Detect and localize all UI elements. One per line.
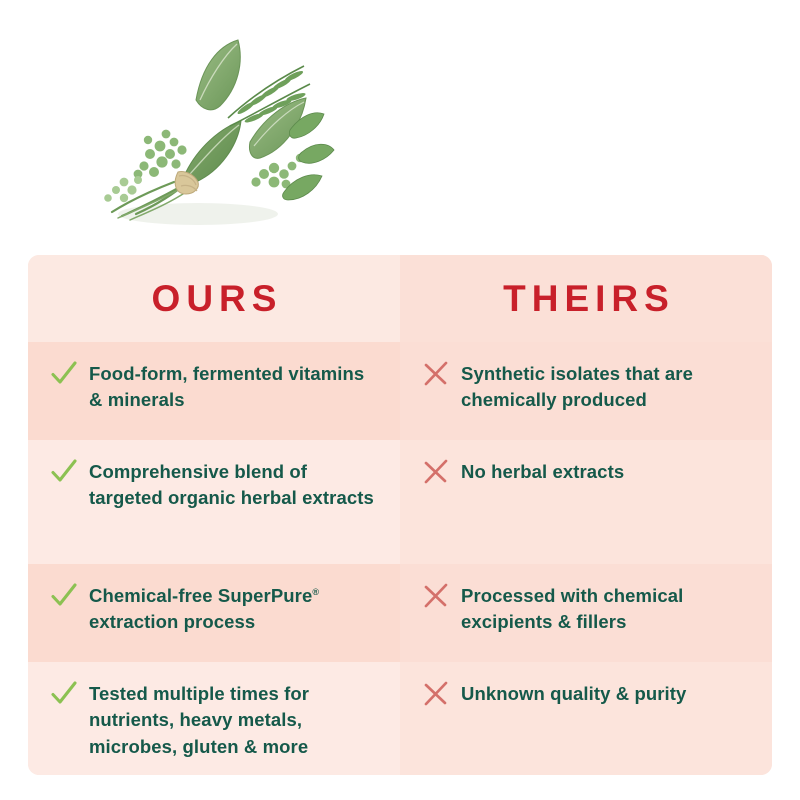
hero-cell-ours [0,0,400,255]
cell-theirs: No herbal extracts [400,440,772,564]
cell-theirs-text: No herbal extracts [461,459,624,485]
cell-theirs-text: Unknown quality & purity [461,681,686,707]
table-header-row: OURS THEIRS [28,255,772,342]
cell-ours-text: Food-form, fermented vitamins & minerals [89,361,378,414]
table-row: Food-form, fermented vitamins & minerals… [28,342,772,440]
cross-icon [421,581,451,611]
check-icon [49,359,79,389]
cell-theirs-text: Synthetic isolates that are chemically p… [461,361,750,414]
cell-theirs: Synthetic isolates that are chemically p… [400,342,772,440]
column-header-ours-label: OURS [146,280,283,317]
cell-ours: Comprehensive blend of targeted organic … [28,440,400,564]
column-header-ours: OURS [28,255,400,342]
cross-icon [421,679,451,709]
hero-cell-theirs: 100ml 80 60 40 [400,0,800,255]
cell-theirs-text: Processed with chemical excipients & fil… [461,583,750,636]
column-header-theirs-label: THEIRS [497,280,675,317]
cell-ours-text: Tested multiple times for nutrients, hea… [89,681,378,760]
hero-imagery: 100ml 80 60 40 [0,0,800,255]
cell-ours-text-prefix: Chemical-free SuperPure [89,585,312,606]
cell-ours: Tested multiple times for nutrients, hea… [28,662,400,775]
cell-ours-text: Chemical-free SuperPure® extraction proc… [89,583,378,636]
table-row: Chemical-free SuperPure® extraction proc… [28,564,772,662]
cell-theirs: Unknown quality & purity [400,662,772,775]
cross-icon [421,359,451,389]
cell-theirs: Processed with chemical excipients & fil… [400,564,772,662]
cell-ours: Chemical-free SuperPure® extraction proc… [28,564,400,662]
column-header-theirs: THEIRS [400,255,772,342]
check-icon [49,457,79,487]
table-row: Comprehensive blend of targeted organic … [28,440,772,564]
table-row: Tested multiple times for nutrients, hea… [28,662,772,775]
check-icon [49,679,79,709]
cell-ours-text: Comprehensive blend of targeted organic … [89,459,378,512]
cell-ours-text-suffix: extraction process [89,611,255,632]
fresh-herbs-bundle-image [78,22,348,237]
check-icon [49,581,79,611]
cell-ours: Food-form, fermented vitamins & minerals [28,342,400,440]
registered-trademark-symbol: ® [312,587,319,597]
table-body: Food-form, fermented vitamins & minerals… [28,342,772,775]
comparison-table: OURS THEIRS Food-form, fermented vitamin… [28,255,772,775]
cross-icon [421,457,451,487]
